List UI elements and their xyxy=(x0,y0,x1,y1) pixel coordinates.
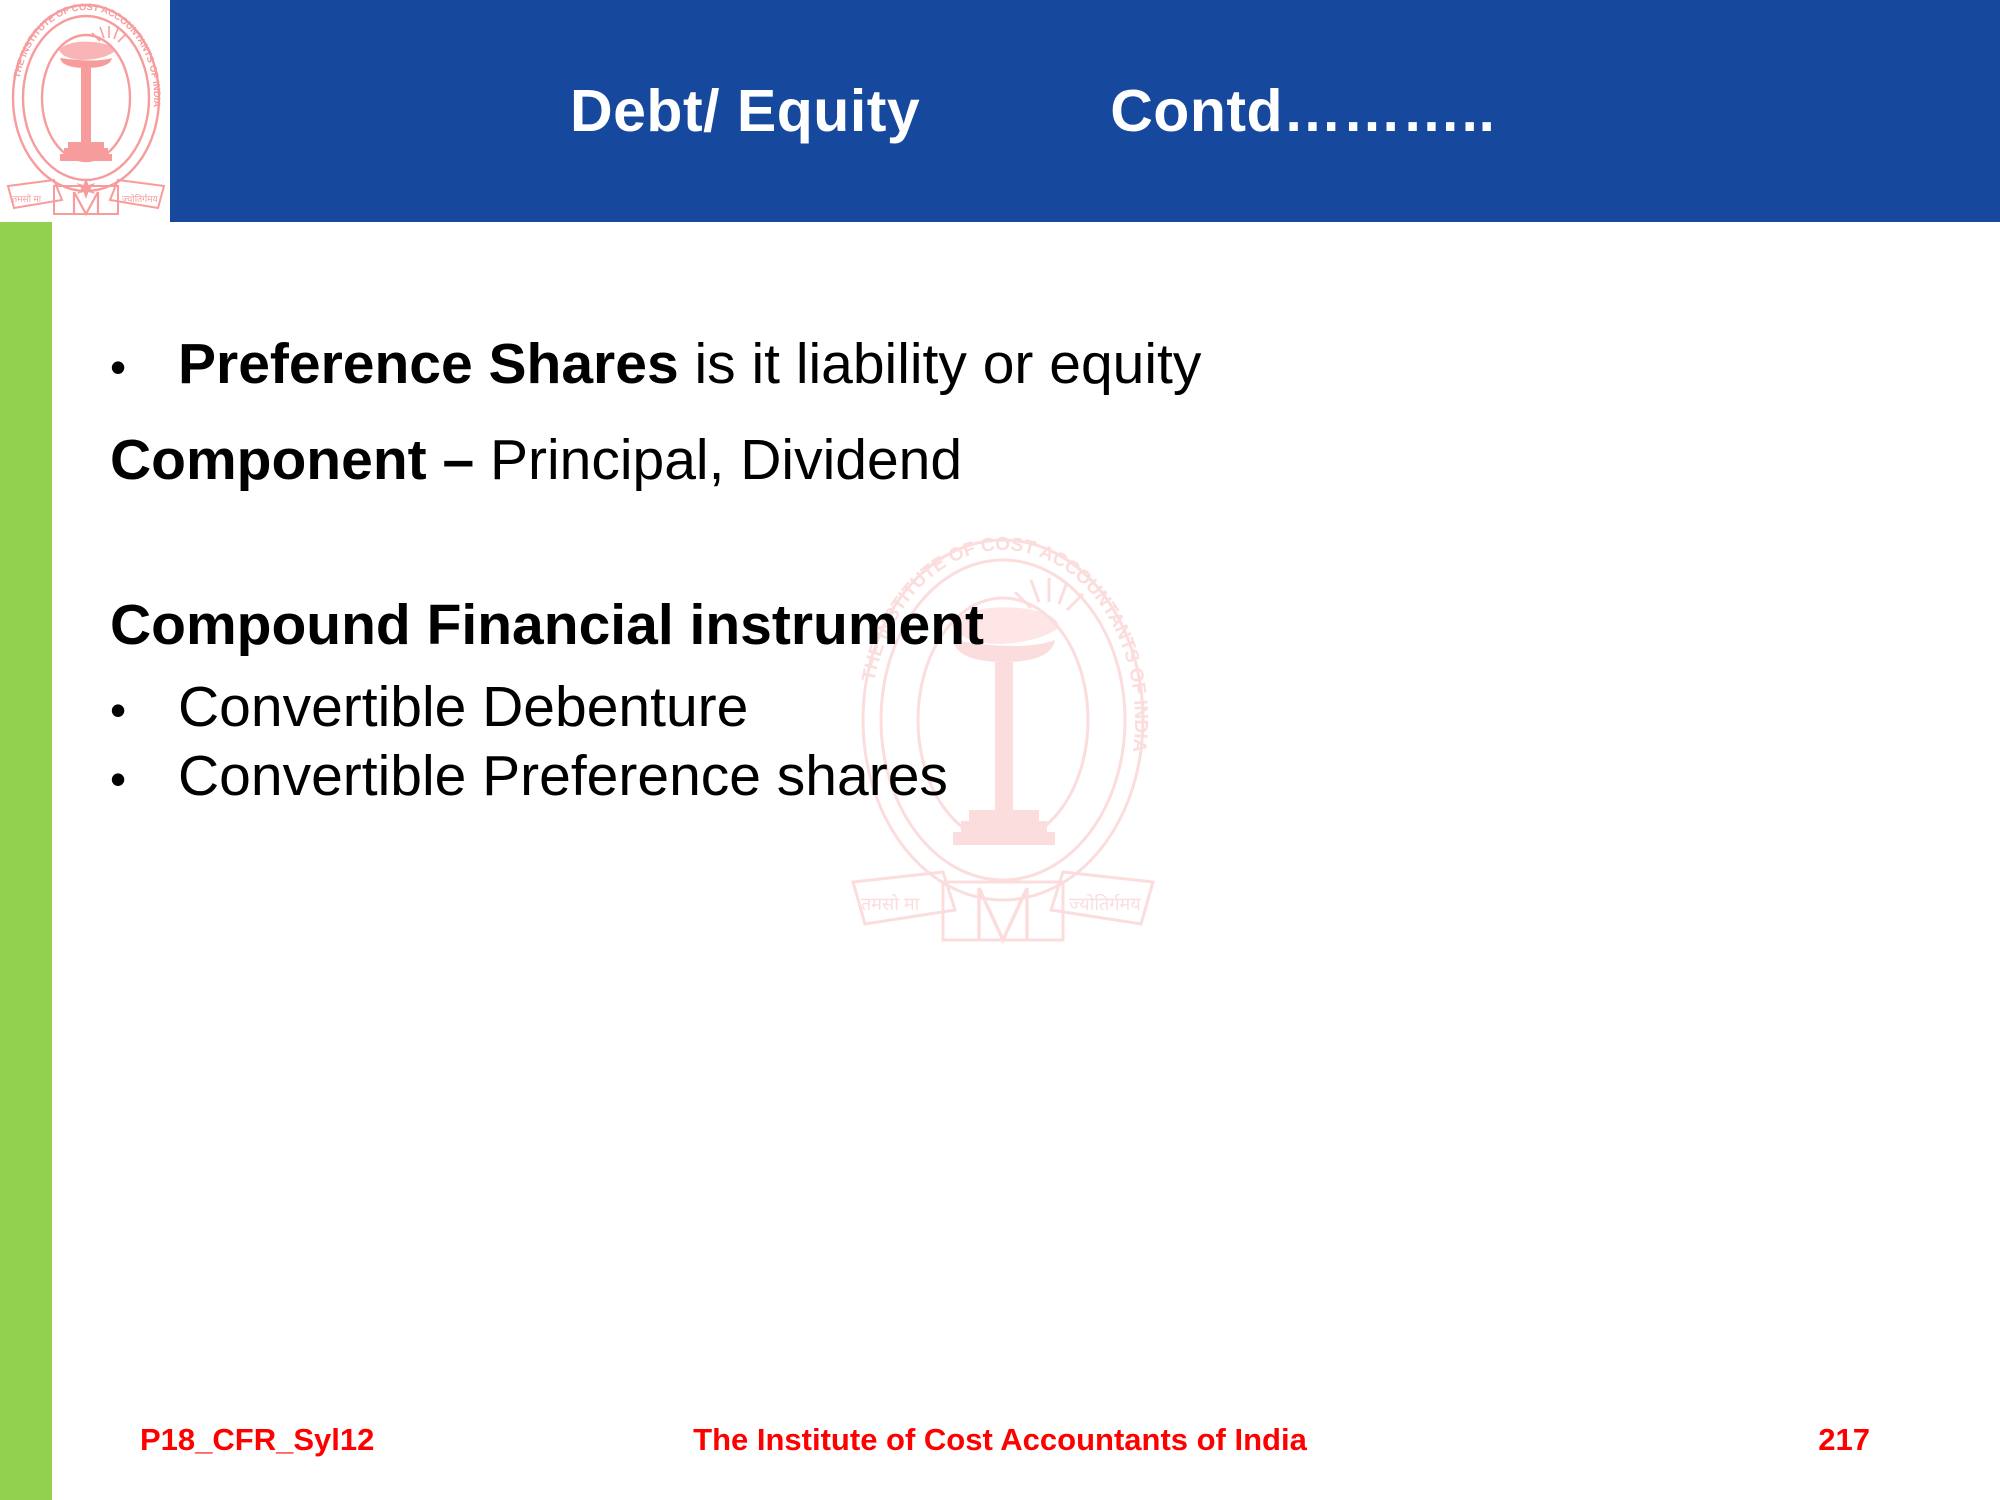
bullet-item-preference-shares: • Preference Shares is it liability or e… xyxy=(110,330,1910,400)
svg-text:ज्योतिर्गमय: ज्योतिर्गमय xyxy=(1069,893,1141,914)
bullet-marker: • xyxy=(110,682,178,738)
footer-organization: The Institute of Cost Accountants of Ind… xyxy=(0,1422,2000,1458)
bullet-text: Preference Shares is it liability or equ… xyxy=(178,330,1201,400)
bullet-item-convertible-preference-shares: • Convertible Preference shares xyxy=(110,742,1910,812)
slide-body: • Preference Shares is it liability or e… xyxy=(110,330,1910,812)
bullet-marker: • xyxy=(110,339,178,395)
bullet-marker: • xyxy=(110,751,178,807)
slide-footer: P18_CFR_Syl12 The Institute of Cost Acco… xyxy=(0,1404,2000,1500)
svg-text:तमसो मा: तमसो मा xyxy=(861,893,920,914)
spacer xyxy=(110,495,1910,591)
footer-page-number: 217 xyxy=(1818,1422,1870,1458)
svg-text:तमसो मा: तमसो मा xyxy=(12,193,42,204)
page-title-continuation: Contd……….. xyxy=(1110,77,1495,145)
section-heading-compound-financial-instrument: Compound Financial instrument xyxy=(110,591,1910,661)
svg-text:ज्योतिर्गमय: ज्योतिर्गमय xyxy=(122,193,159,204)
component-line: Component – Principal, Dividend xyxy=(110,426,1910,496)
presentation-slide: Debt/ Equity Contd……….. xyxy=(0,0,2000,1500)
bullet-text-bold: Preference Shares xyxy=(178,332,679,396)
spacer xyxy=(110,400,1910,426)
bullet-text-rest: is it liability or equity xyxy=(679,332,1202,396)
left-accent-band xyxy=(0,222,52,1500)
component-value: Principal, Dividend xyxy=(490,428,962,492)
bullet-text: Convertible Preference shares xyxy=(178,742,948,812)
page-title: Debt/ Equity xyxy=(570,77,920,145)
header-title-group: Debt/ Equity Contd……….. xyxy=(170,0,2000,222)
component-label: Component – xyxy=(110,428,490,492)
bullet-item-convertible-debenture: • Convertible Debenture xyxy=(110,673,1910,743)
bullet-text: Convertible Debenture xyxy=(178,673,748,743)
icai-logo: THE INSTITUTE OF COST ACCOUNTANTS OF IND… xyxy=(2,0,170,222)
